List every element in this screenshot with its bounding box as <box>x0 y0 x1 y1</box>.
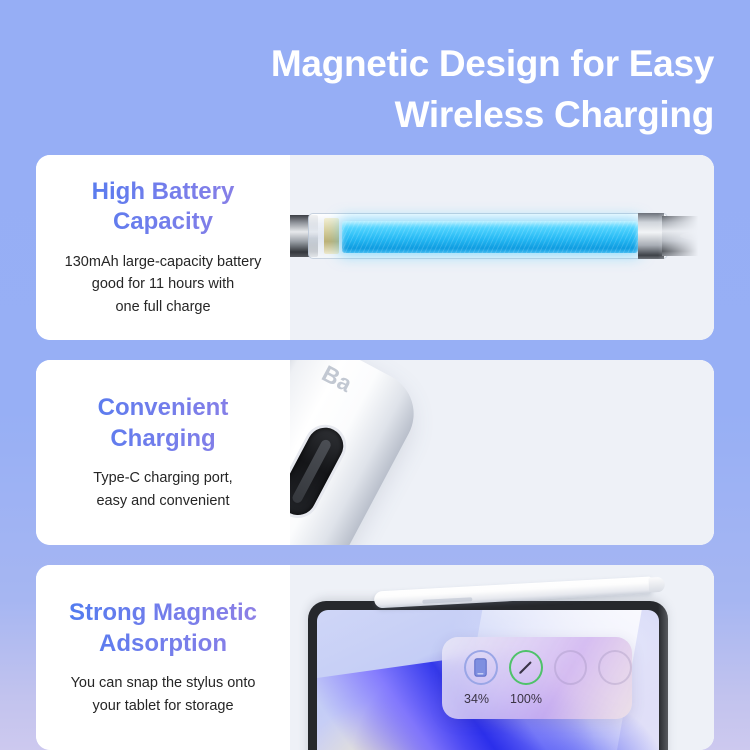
type-c-port <box>290 421 350 521</box>
tablet-icon <box>474 658 487 677</box>
card-media-tablet-magnet: 34% 100% <box>290 565 714 750</box>
battery-ring-list <box>464 650 632 685</box>
stylus-flat-edge <box>422 597 472 604</box>
feature-card-list: High Battery Capacity 130mAh large-capac… <box>36 155 714 750</box>
card-media-battery-stylus <box>290 155 714 340</box>
feature-card-strong-magnetic-adsorption: Strong Magnetic Adsorption You can snap … <box>36 565 714 750</box>
glowing-battery-cell <box>342 221 638 253</box>
transparent-stylus-illustration <box>290 207 714 265</box>
feature-card-convenient-charging: Convenient Charging Type-C charging port… <box>36 360 714 545</box>
brand-label: Ba <box>317 360 357 398</box>
battery-ring-empty-2 <box>598 650 632 685</box>
battery-value-stylus: 100% <box>510 692 542 706</box>
battery-value-list: 34% 100% <box>464 692 632 706</box>
battery-value-tablet: 34% <box>464 692 510 706</box>
battery-ring-stylus <box>509 650 543 685</box>
stylus-gold-contact <box>324 218 339 254</box>
card-title: Strong Magnetic Adsorption <box>46 598 280 659</box>
battery-ring-empty-1 <box>554 650 588 685</box>
media-edge-fade <box>658 360 714 545</box>
card-title: Convenient Charging <box>46 393 280 454</box>
white-stylus-illustration: Ba <box>290 360 428 545</box>
card-text-panel: Convenient Charging Type-C charging port… <box>36 360 290 545</box>
card-media-type-c-port: Ba <box>290 360 714 545</box>
card-description: You can snap the stylus onto your tablet… <box>71 672 256 717</box>
card-text-panel: Strong Magnetic Adsorption You can snap … <box>36 565 290 750</box>
card-description: Type-C charging port, easy and convenien… <box>93 467 232 512</box>
hero-line-1: Magnetic Design for Easy <box>36 38 714 89</box>
stylus-metal-collar <box>638 213 664 259</box>
card-title: High Battery Capacity <box>46 177 280 238</box>
hero-line-2: Wireless Charging <box>36 89 714 140</box>
battery-ring-tablet <box>464 650 498 685</box>
stylus-icon <box>516 658 535 677</box>
card-text-panel: High Battery Capacity 130mAh large-capac… <box>36 155 290 340</box>
card-description: 130mAh large-capacity battery good for 1… <box>65 251 262 318</box>
feature-card-high-battery-capacity: High Battery Capacity 130mAh large-capac… <box>36 155 714 340</box>
hero-heading: Magnetic Design for Easy Wireless Chargi… <box>0 0 750 140</box>
battery-status-widget[interactable]: 34% 100% <box>442 637 632 719</box>
stylus-metal-body <box>662 216 714 256</box>
